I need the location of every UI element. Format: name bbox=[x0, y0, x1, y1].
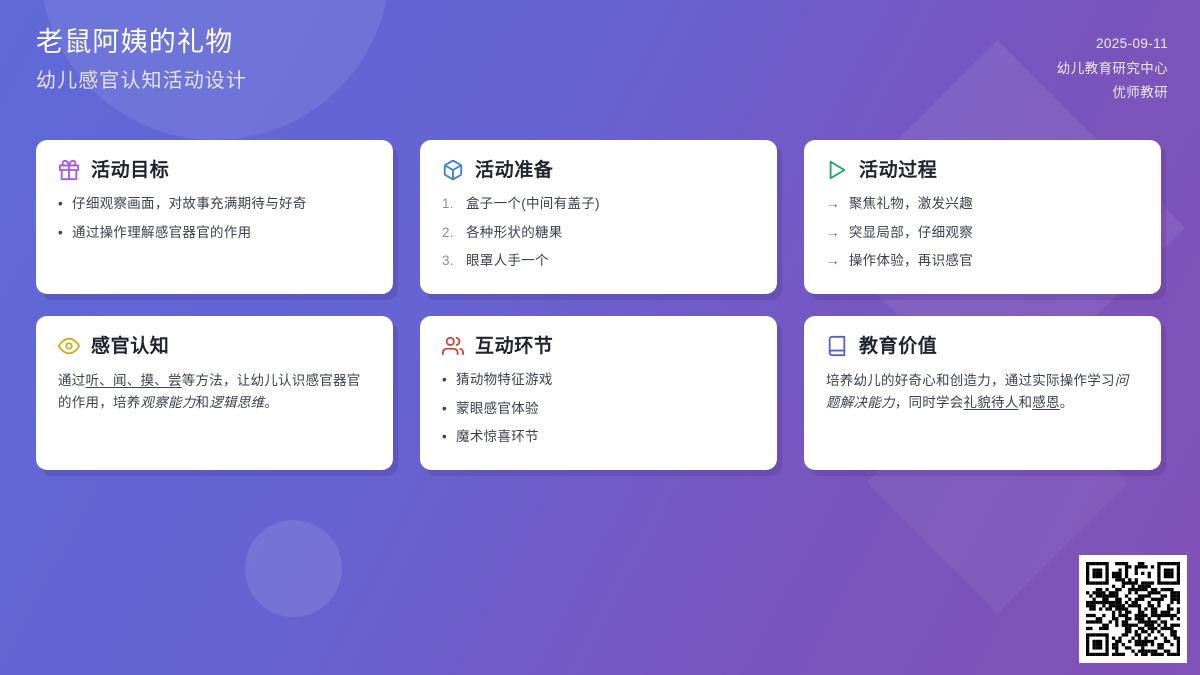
list-item-label: 蒙眼感官体验 bbox=[456, 399, 539, 419]
numbered-list: 1.盒子一个(中间有盖子)2.各种形状的糖果3.眼罩人手一个 bbox=[442, 194, 755, 271]
list-item: 2.各种形状的糖果 bbox=[442, 223, 755, 243]
page-subtitle: 幼儿感官认知活动设计 bbox=[36, 69, 247, 93]
list-item-label: 猜动物特征游戏 bbox=[456, 370, 553, 390]
bullet-list: •猜动物特征游戏•蒙眼感官体验•魔术惊喜环节 bbox=[442, 370, 755, 447]
list-item: 1.盒子一个(中间有盖子) bbox=[442, 194, 755, 214]
slide-header: 老鼠阿姨的礼物 幼儿感官认知活动设计 2025-09-11 幼儿教育研究中心 优… bbox=[0, 0, 1200, 122]
list-item: →突显局部，仔细观察 bbox=[826, 223, 1139, 243]
qr-code-image bbox=[1086, 562, 1180, 656]
slide-canvas: 老鼠阿姨的礼物 幼儿感官认知活动设计 2025-09-11 幼儿教育研究中心 优… bbox=[0, 0, 1200, 675]
emphasis-text: 逻辑思维 bbox=[209, 395, 264, 410]
list-item: •猜动物特征游戏 bbox=[442, 370, 755, 390]
box-icon bbox=[442, 159, 464, 181]
plain-text: 和 bbox=[1019, 395, 1033, 410]
card-educational-value: 教育价值培养幼儿的好奇心和创造力，通过实际操作学习问题解决能力，同时学会礼貌待人… bbox=[804, 316, 1161, 470]
list-number: 2. bbox=[442, 223, 457, 243]
card-header: 活动准备 bbox=[442, 159, 755, 181]
list-item: →操作体验，再识感官 bbox=[826, 251, 1139, 271]
card-activity-preparation: 活动准备1.盒子一个(中间有盖子)2.各种形状的糖果3.眼罩人手一个 bbox=[420, 140, 777, 294]
list-item-label: 突显局部，仔细观察 bbox=[849, 223, 973, 243]
card-title: 教育价值 bbox=[859, 337, 937, 356]
list-item-label: 通过操作理解感官器官的作用 bbox=[72, 223, 251, 243]
card-header: 活动过程 bbox=[826, 159, 1139, 181]
meta-brand: 优师教研 bbox=[1112, 83, 1168, 103]
arrow-marker: → bbox=[826, 194, 840, 214]
header-meta: 2025-09-11 幼儿教育研究中心 优师教研 bbox=[1057, 26, 1168, 103]
arrow-marker: → bbox=[826, 251, 840, 271]
decorative-circle-bottom bbox=[245, 520, 342, 617]
card-paragraph: 培养幼儿的好奇心和创造力，通过实际操作学习问题解决能力，同时学会礼貌待人和感恩。 bbox=[826, 370, 1139, 414]
meta-org: 幼儿教育研究中心 bbox=[1057, 59, 1168, 79]
list-number: 1. bbox=[442, 194, 457, 214]
plain-text: 。 bbox=[264, 395, 278, 410]
bullet-marker: • bbox=[58, 223, 63, 243]
card-title: 感官认知 bbox=[91, 337, 169, 356]
emphasis-text: 观察能力 bbox=[141, 395, 196, 410]
arrow-marker: → bbox=[826, 223, 840, 243]
bullet-marker: • bbox=[58, 194, 63, 214]
list-item-label: 操作体验，再识感官 bbox=[849, 251, 973, 271]
underlined-text: 礼貌待人 bbox=[964, 395, 1019, 410]
card-grid: 活动目标•仔细观察画面，对故事充满期待与好奇•通过操作理解感官器官的作用活动准备… bbox=[36, 140, 1169, 470]
card-header: 互动环节 bbox=[442, 335, 755, 357]
card-header: 感官认知 bbox=[58, 335, 371, 357]
qr-code[interactable] bbox=[1079, 555, 1187, 663]
list-item-label: 盒子一个(中间有盖子) bbox=[466, 194, 600, 214]
card-activity-process: 活动过程→聚焦礼物，激发兴趣→突显局部，仔细观察→操作体验，再识感官 bbox=[804, 140, 1161, 294]
plain-text: 通过 bbox=[58, 373, 86, 388]
underlined-text: 感恩 bbox=[1032, 395, 1060, 410]
underlined-text: 听、闻、摸、尝 bbox=[86, 373, 182, 388]
card-interactive-session: 互动环节•猜动物特征游戏•蒙眼感官体验•魔术惊喜环节 bbox=[420, 316, 777, 470]
book-icon bbox=[826, 335, 848, 357]
list-item: •魔术惊喜环节 bbox=[442, 427, 755, 447]
card-title: 互动环节 bbox=[475, 337, 553, 356]
bullet-marker: • bbox=[442, 427, 447, 447]
card-sensory-cognition: 感官认知通过听、闻、摸、尝等方法，让幼儿认识感官器官的作用，培养观察能力和逻辑思… bbox=[36, 316, 393, 470]
plain-text: ，同时学会 bbox=[895, 395, 964, 410]
list-item: →聚焦礼物，激发兴趣 bbox=[826, 194, 1139, 214]
card-paragraph: 通过听、闻、摸、尝等方法，让幼儿认识感官器官的作用，培养观察能力和逻辑思维。 bbox=[58, 370, 371, 414]
list-item-label: 聚焦礼物，激发兴趣 bbox=[849, 194, 973, 214]
list-number: 3. bbox=[442, 251, 457, 271]
list-item-label: 各种形状的糖果 bbox=[466, 223, 563, 243]
card-title: 活动目标 bbox=[91, 161, 169, 180]
list-item-label: 仔细观察画面，对故事充满期待与好奇 bbox=[72, 194, 307, 214]
meta-date: 2025-09-11 bbox=[1096, 34, 1168, 54]
card-activity-goals: 活动目标•仔细观察画面，对故事充满期待与好奇•通过操作理解感官器官的作用 bbox=[36, 140, 393, 294]
page-title: 老鼠阿姨的礼物 bbox=[36, 26, 247, 60]
list-item: 3.眼罩人手一个 bbox=[442, 251, 755, 271]
list-item: •仔细观察画面，对故事充满期待与好奇 bbox=[58, 194, 371, 214]
eye-icon bbox=[58, 335, 80, 357]
gift-icon bbox=[58, 159, 80, 181]
list-item: •蒙眼感官体验 bbox=[442, 399, 755, 419]
list-item-label: 魔术惊喜环节 bbox=[456, 427, 539, 447]
list-item-label: 眼罩人手一个 bbox=[466, 251, 549, 271]
card-header: 活动目标 bbox=[58, 159, 371, 181]
plain-text: 。 bbox=[1060, 395, 1074, 410]
card-title: 活动准备 bbox=[475, 161, 553, 180]
title-block: 老鼠阿姨的礼物 幼儿感官认知活动设计 bbox=[36, 26, 247, 93]
list-item: •通过操作理解感官器官的作用 bbox=[58, 223, 371, 243]
card-header: 教育价值 bbox=[826, 335, 1139, 357]
plain-text: 和 bbox=[196, 395, 210, 410]
bullet-marker: • bbox=[442, 370, 447, 390]
users-icon bbox=[442, 335, 464, 357]
bullet-marker: • bbox=[442, 399, 447, 419]
play-icon bbox=[826, 159, 848, 181]
bullet-list: •仔细观察画面，对故事充满期待与好奇•通过操作理解感官器官的作用 bbox=[58, 194, 371, 242]
card-title: 活动过程 bbox=[859, 161, 937, 180]
plain-text: 培养幼儿的好奇心和创造力，通过实际操作学习 bbox=[826, 373, 1115, 388]
